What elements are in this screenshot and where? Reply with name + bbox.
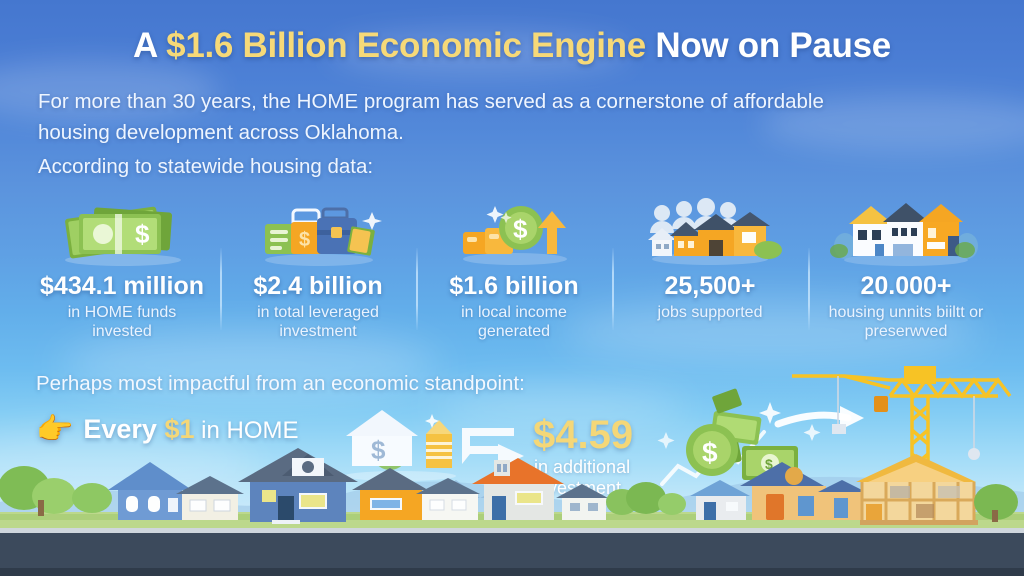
stat-label: jobs supported (658, 303, 763, 322)
band-lead-text: Perhaps most impactful from an economic … (36, 372, 525, 396)
stat-value: $2.4 billion (253, 272, 382, 301)
stat-item: 20.000+ housing unnits biiltt or preserw… (808, 196, 1004, 341)
stat-label: in local income generated (432, 303, 597, 341)
stat-label: in HOME funds invested (40, 303, 205, 341)
briefcase-money-icon: $ (220, 196, 416, 268)
section-lead: According to statewide housing data: (38, 155, 373, 179)
svg-text:$: $ (299, 229, 310, 251)
stat-item: $ $434.1 million in HOME funds invested (24, 196, 220, 341)
stat-item: $ $1.6 billion in local income generated (416, 196, 612, 341)
stat-value: $434.1 million (40, 272, 204, 301)
infographic-canvas: A $1.6 Billion Economic Engine Now on Pa… (0, 0, 1024, 576)
dollar-coin-arrow-icon: $ (416, 196, 612, 268)
page-title: A $1.6 Billion Economic Engine Now on Pa… (0, 26, 1024, 66)
stat-value: 25,500+ (664, 272, 755, 301)
intro-paragraph: For more than 30 years, the HOME program… (38, 86, 838, 148)
stat-label: housing unnits biiltt or preserwved (824, 303, 989, 341)
stat-label: in total leveraged investment (236, 303, 401, 341)
title-part-2: Now on Pause (646, 26, 891, 65)
stat-item: 25,500+ jobs supported (612, 196, 808, 341)
row-of-houses-icon (808, 196, 1004, 268)
cash-stack-icon: $ (24, 196, 220, 268)
title-part-1: A (133, 26, 166, 65)
stat-value: 20.000+ (860, 272, 951, 301)
neighborhood-scene (0, 440, 1024, 576)
svg-text:$: $ (513, 214, 528, 244)
title-highlight: $1.6 Billion Economic Engine (166, 26, 646, 65)
stat-value: $1.6 billion (449, 272, 578, 301)
stat-item: $ $2.4 billion in total leveraged invest… (220, 196, 416, 341)
svg-text:$: $ (135, 219, 150, 249)
stats-row: $ $434.1 million in HOME funds invested … (24, 196, 1004, 341)
people-houses-icon (612, 196, 808, 268)
